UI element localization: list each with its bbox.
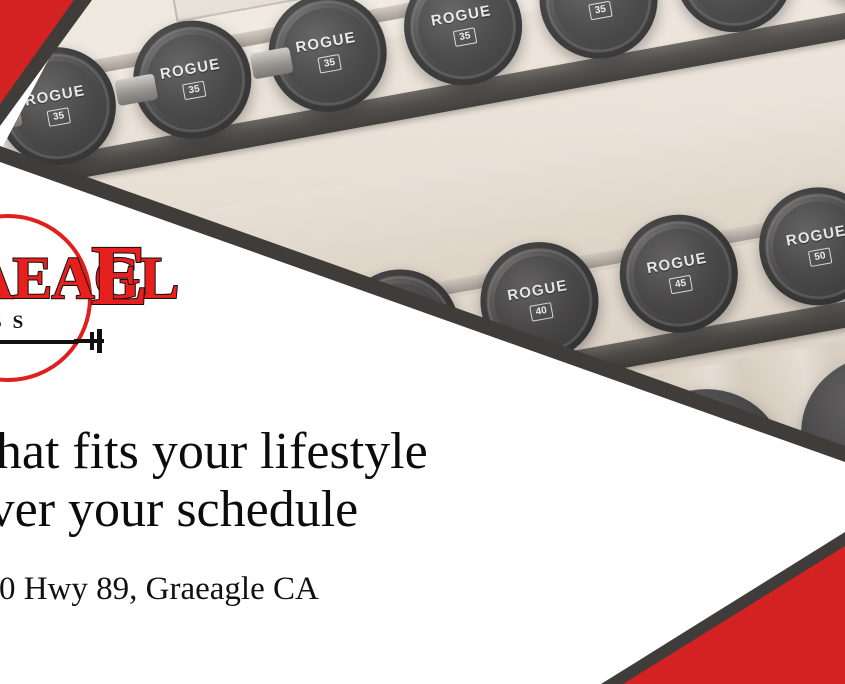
logo-underline — [0, 340, 78, 344]
headline-line-1: m that fits your lifestyle — [0, 423, 428, 480]
logo-subtitle: FITNESS — [0, 312, 34, 334]
graeagle-fitness-logo: GRAEAGL E FITNESS — [0, 210, 212, 386]
address-text: 440 Hwy 89, Graeagle CA — [0, 571, 319, 608]
barbell-icon — [74, 328, 104, 354]
content-panel: GRAEAGL E FITNESS m that fits your lifes… — [0, 150, 640, 684]
page-title: m that fits your lifestyle atever your s… — [0, 426, 648, 536]
logo-wordmark-final-letter: E — [91, 232, 148, 318]
promo-banner: ROGUE35 ROGUE35 ROGUE35 ROGUE35 ROGUE35 … — [0, 0, 845, 684]
headline-line-2: atever your schedule — [0, 484, 648, 536]
logo-wordmark: GRAEAGL — [0, 248, 178, 308]
